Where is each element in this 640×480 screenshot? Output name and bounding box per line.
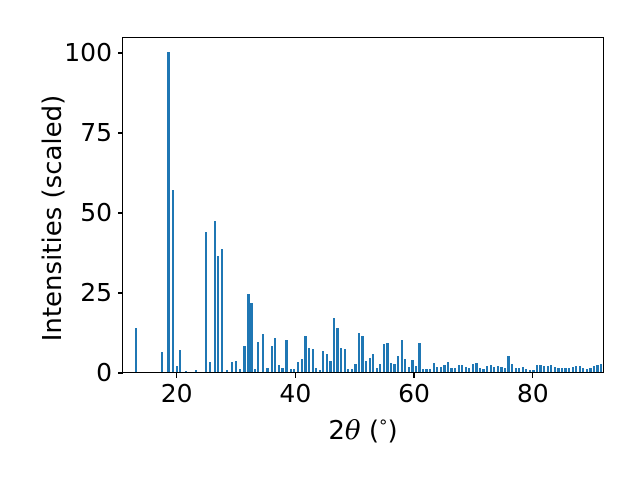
x-tick-mark	[413, 373, 414, 378]
xrd-peak-bar	[217, 256, 219, 372]
xrd-peak-bar	[529, 370, 531, 372]
xrd-peak-bar	[500, 367, 502, 372]
xrd-peak-bar	[525, 369, 527, 372]
xrd-peak-bar	[308, 348, 310, 372]
xrd-peak-bar	[278, 365, 280, 372]
xrd-peak-bar	[185, 371, 187, 372]
xrd-figure: Intensities (scaled) 0255075100 20406080…	[0, 0, 640, 480]
xrd-peak-bar	[205, 232, 207, 372]
xrd-peak-bar	[486, 366, 488, 372]
xrd-peak-bar	[221, 249, 223, 372]
xrd-peak-bar	[401, 340, 403, 372]
xrd-peak-bar	[511, 364, 513, 372]
xrd-peak-bar	[281, 368, 283, 372]
xrd-peak-bar	[554, 367, 556, 372]
xrd-peak-bar	[390, 363, 392, 372]
xrd-peak-bar	[557, 368, 559, 372]
xrd-peak-bar	[329, 361, 331, 372]
x-tick-label: 20	[137, 381, 217, 406]
x-tick-label: 60	[374, 381, 454, 406]
xrd-peak-bar	[515, 368, 517, 372]
xrd-peak-bar	[475, 363, 477, 372]
xrd-peak-bar	[354, 364, 356, 372]
xrd-peak-bar	[347, 369, 349, 372]
xrd-peak-bar	[214, 221, 216, 372]
xrd-peak-bar	[226, 370, 228, 372]
xlabel-two: 2	[328, 416, 345, 446]
xrd-peak-bar	[297, 362, 299, 372]
x-tick-label: 40	[255, 381, 335, 406]
xrd-peak-bar	[532, 370, 534, 372]
xrd-peak-bar	[490, 365, 492, 372]
xrd-peak-bar	[458, 365, 460, 372]
xrd-peak-bar	[254, 369, 256, 372]
xrd-peak-bar	[231, 362, 233, 372]
xrd-peak-bar	[195, 370, 197, 372]
xrd-peak-bar	[235, 361, 237, 372]
xrd-peak-bar	[257, 342, 259, 372]
xrd-peak-bar	[429, 369, 431, 372]
xrd-peak-bar	[408, 367, 410, 372]
xrd-peak-bar	[172, 190, 174, 372]
xrd-peak-bar	[493, 367, 495, 372]
xrd-peak-bar	[351, 369, 353, 372]
xrd-peak-bar	[271, 346, 273, 372]
xrd-peak-bar	[450, 368, 452, 372]
xrd-peak-bar	[543, 366, 545, 372]
x-tick-mark	[295, 373, 296, 378]
y-tick-label: 100	[0, 40, 112, 65]
xrd-peak-bar	[425, 369, 427, 372]
xrd-peak-bar	[247, 294, 249, 372]
xrd-peak-bar	[393, 364, 395, 372]
xrd-peak-bar	[290, 369, 292, 372]
xlabel-paren-close: )	[387, 416, 397, 446]
xrd-peak-bar	[319, 370, 321, 372]
xrd-peak-bar	[461, 365, 463, 372]
xrd-peak-bar	[579, 366, 581, 372]
xrd-peak-bar	[379, 364, 381, 372]
y-tick-label: 50	[0, 200, 112, 225]
xrd-peak-bar	[443, 365, 445, 372]
xrd-bars	[123, 38, 603, 372]
x-tick-mark	[532, 373, 533, 378]
xrd-peak-bar	[285, 340, 287, 372]
xrd-peak-bar	[418, 343, 420, 372]
y-tick-label: 25	[0, 280, 112, 305]
xrd-peak-bar	[561, 368, 563, 372]
xrd-peak-bar	[301, 359, 303, 372]
xrd-peak-bar	[468, 368, 470, 372]
xrd-peak-bar	[358, 333, 360, 372]
xrd-peak-bar	[376, 368, 378, 372]
y-tick-label: 75	[0, 120, 112, 145]
y-tick-label: 0	[0, 360, 112, 385]
xrd-peak-bar	[547, 366, 549, 372]
xrd-peak-bar	[415, 366, 417, 372]
xrd-peak-bar	[522, 367, 524, 372]
xrd-peak-bar	[564, 368, 566, 372]
xrd-peak-bar	[536, 365, 538, 372]
xrd-peak-bar	[586, 369, 588, 372]
xrd-peak-bar	[383, 344, 385, 372]
x-tick-label: 80	[493, 381, 573, 406]
xlabel-theta: θ	[345, 416, 361, 446]
xrd-peak-bar	[179, 350, 181, 372]
xrd-peak-bar	[600, 364, 602, 372]
xrd-peak-bar	[593, 366, 595, 372]
xrd-peak-bar	[411, 360, 413, 372]
xrd-peak-bar	[344, 349, 346, 372]
xrd-peak-bar	[322, 351, 324, 372]
xrd-peak-bar	[340, 348, 342, 372]
xrd-peak-bar	[209, 362, 211, 372]
xrd-peak-bar	[386, 343, 388, 372]
xlabel-paren-open: (	[369, 416, 379, 446]
xrd-peak-bar	[575, 366, 577, 372]
xrd-peak-bar	[550, 365, 552, 372]
xrd-peak-bar	[239, 369, 241, 372]
xrd-peak-bar	[440, 367, 442, 372]
xrd-peak-bar	[472, 364, 474, 372]
plot-area	[122, 37, 604, 373]
xrd-peak-bar	[372, 354, 374, 372]
xrd-peak-bar	[250, 303, 252, 372]
xrd-peak-bar	[161, 352, 163, 372]
xrd-peak-bar	[436, 367, 438, 372]
xrd-peak-bar	[167, 52, 169, 372]
xrd-peak-bar	[497, 366, 499, 372]
xrd-peak-bar	[518, 368, 520, 372]
xrd-peak-bar	[507, 356, 509, 372]
xrd-peak-bar	[293, 369, 295, 372]
xrd-peak-bar	[266, 368, 268, 372]
xrd-peak-bar	[504, 368, 506, 372]
x-axis-title: 2θ (°)	[122, 418, 604, 444]
xrd-peak-bar	[582, 368, 584, 372]
xrd-peak-bar	[422, 369, 424, 372]
xrd-peak-bar	[433, 363, 435, 372]
xrd-peak-bar	[589, 368, 591, 372]
xrd-peak-bar	[274, 338, 276, 372]
xrd-peak-bar	[262, 334, 264, 372]
xrd-peak-bar	[397, 356, 399, 372]
xrd-peak-bar	[315, 368, 317, 372]
xrd-peak-bar	[326, 354, 328, 372]
xrd-peak-bar	[465, 367, 467, 372]
xrd-peak-bar	[404, 359, 406, 372]
xrd-peak-bar	[539, 365, 541, 372]
xrd-peak-bar	[336, 328, 338, 372]
xrd-peak-bar	[361, 336, 363, 372]
xrd-peak-bar	[572, 367, 574, 372]
xrd-peak-bar	[454, 368, 456, 372]
xrd-peak-bar	[596, 365, 598, 372]
xrd-peak-bar	[304, 336, 306, 372]
xrd-peak-bar	[568, 368, 570, 372]
xrd-peak-bar	[479, 368, 481, 372]
xrd-peak-bar	[312, 349, 314, 372]
xrd-peak-bar	[135, 328, 137, 372]
xrd-peak-bar	[369, 358, 371, 372]
xrd-peak-bar	[243, 346, 245, 372]
xrd-peak-bar	[176, 366, 178, 372]
xrd-peak-bar	[333, 318, 335, 372]
xrd-peak-bar	[447, 362, 449, 372]
xrd-peak-bar	[482, 369, 484, 372]
x-tick-mark	[176, 373, 177, 378]
xrd-peak-bar	[365, 361, 367, 372]
